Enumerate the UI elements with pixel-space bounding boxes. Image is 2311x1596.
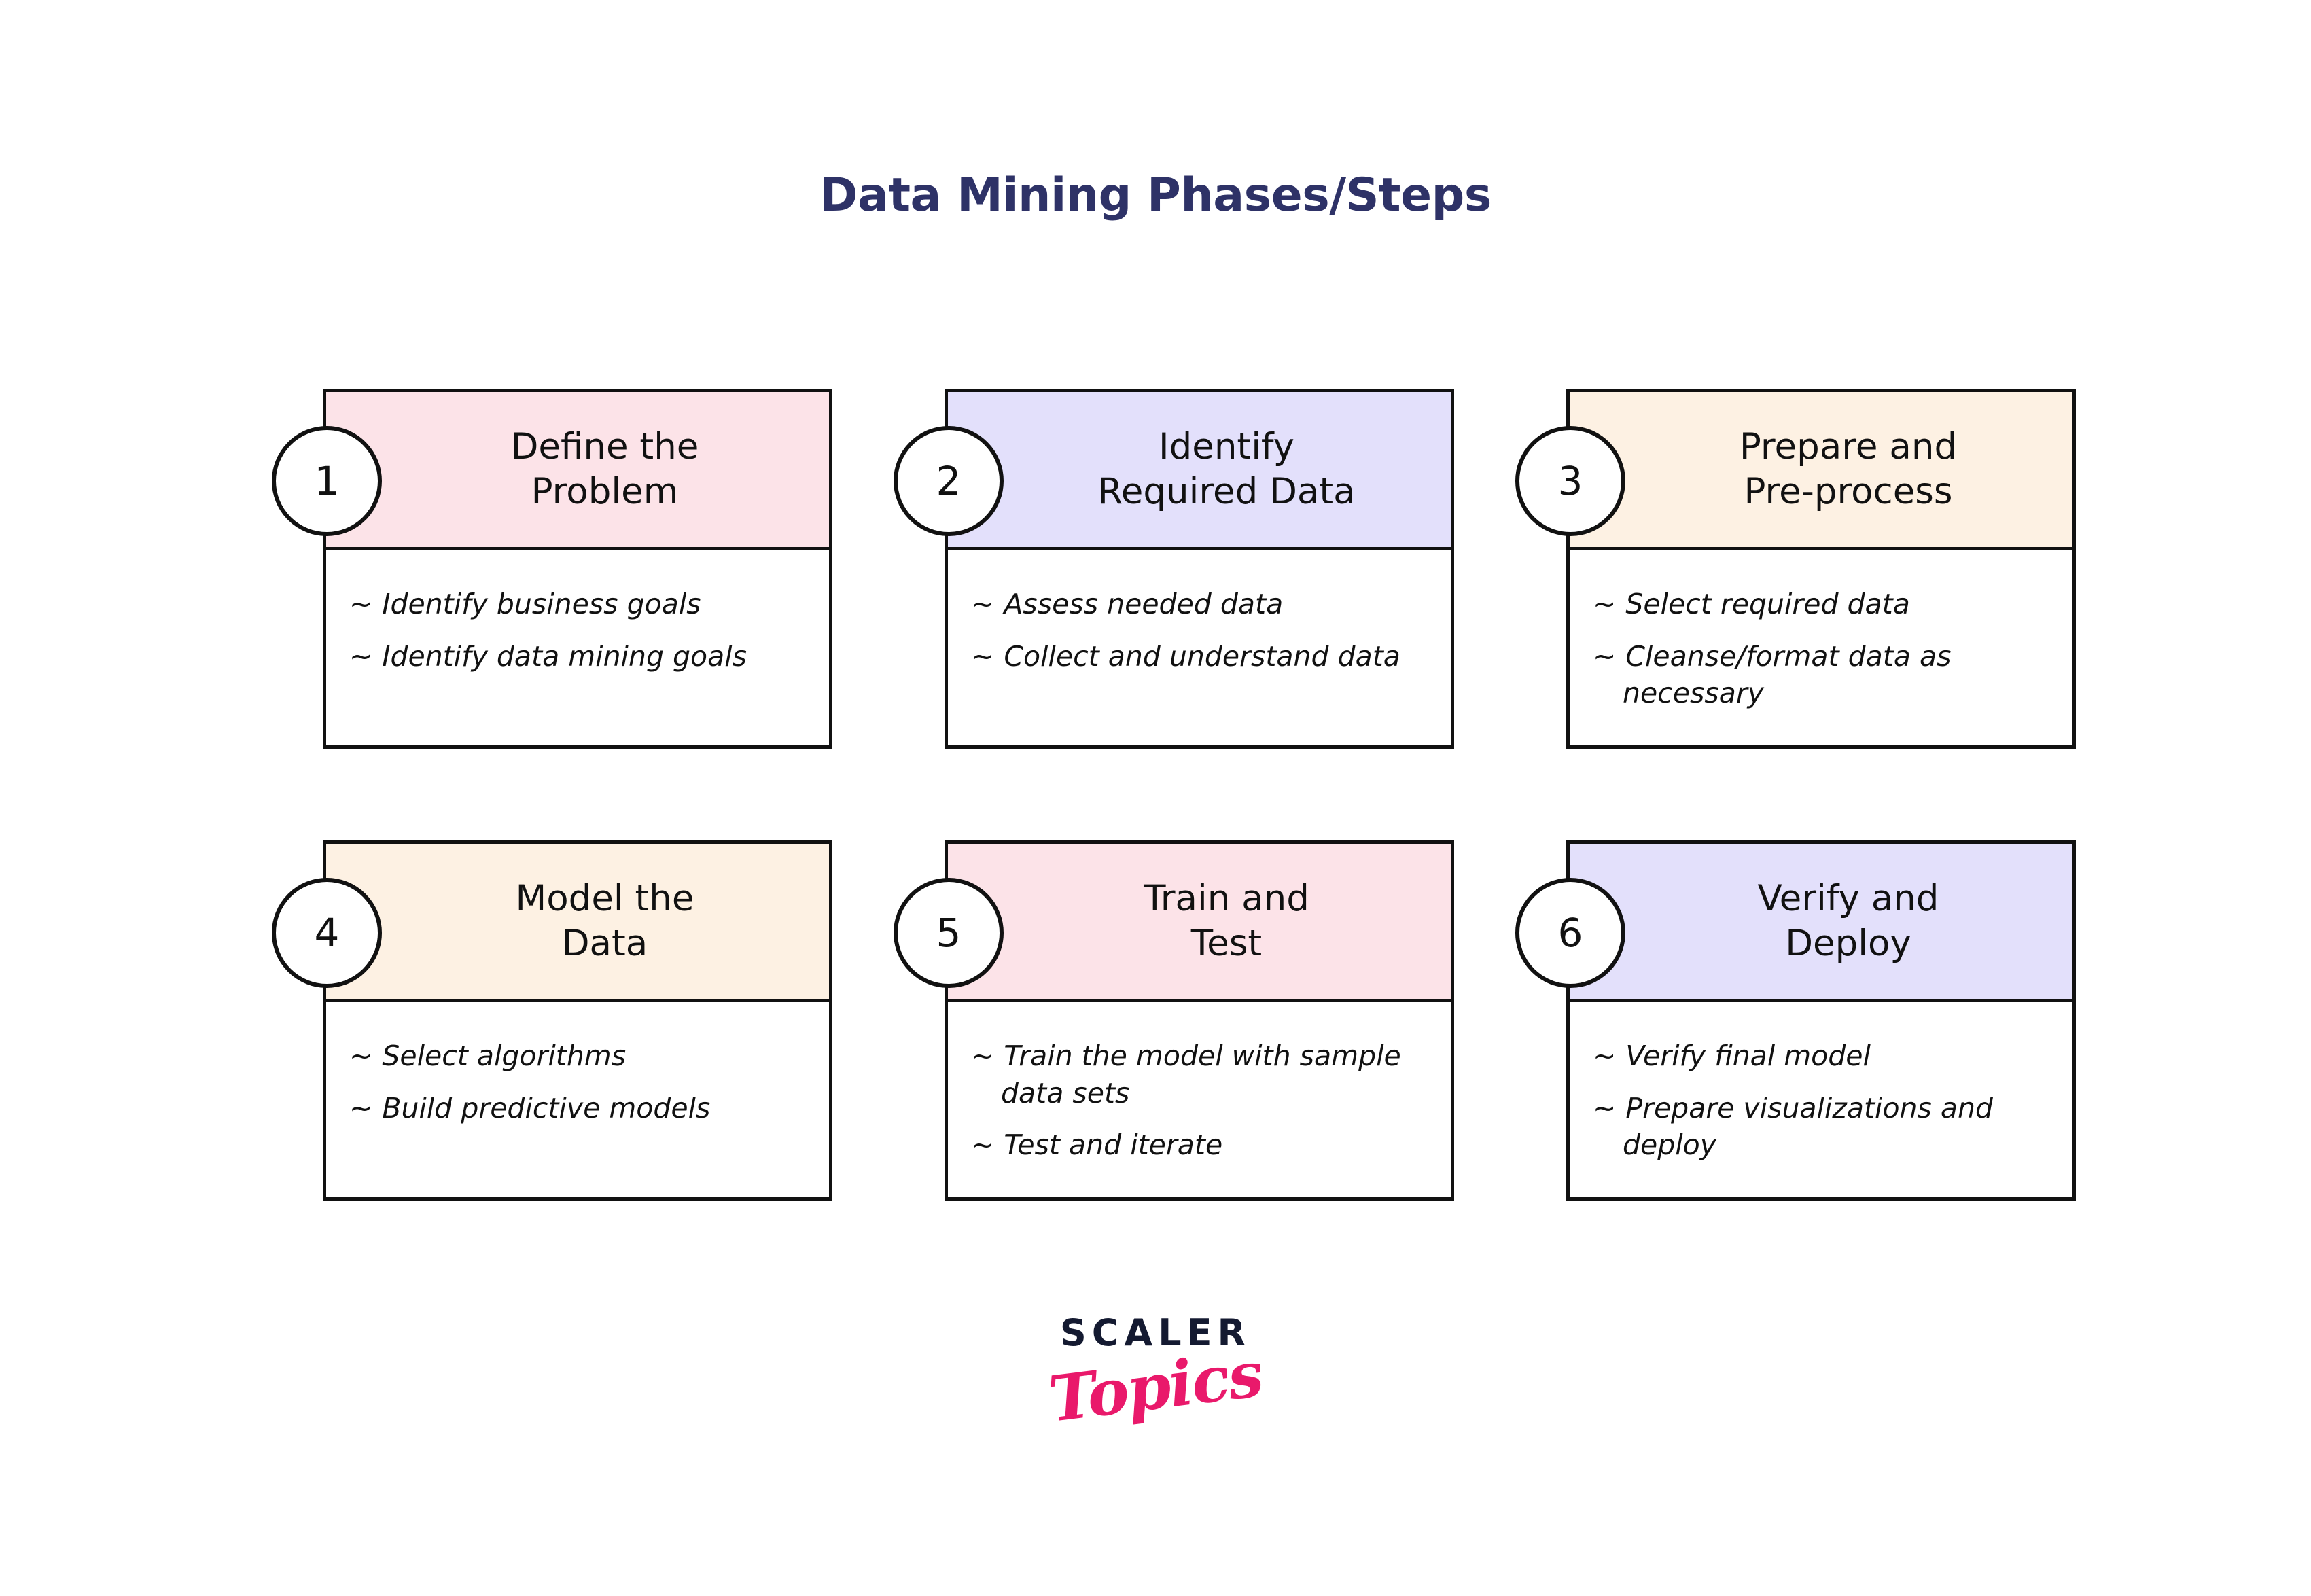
phase-card-body: ~Train the model with sample data sets~T…: [948, 1002, 1451, 1197]
step-number-label: 5: [936, 913, 962, 953]
phase-bullet: ~Collect and understand data: [971, 638, 1428, 675]
bullet-text: Verify final model: [1625, 1040, 1871, 1072]
phase-card-body: ~Assess needed data~Collect and understa…: [948, 550, 1451, 745]
bullet-marker-icon: ~: [349, 1092, 382, 1124]
bullet-text: Select required data: [1625, 588, 1910, 620]
bullet-marker-icon: ~: [971, 588, 1004, 620]
phase-card: 1Define the Problem~Identify business go…: [323, 389, 832, 749]
bullet-text: Select algorithms: [382, 1040, 626, 1072]
phase-card-body: ~Identify business goals~Identify data m…: [326, 550, 829, 745]
bullet-text: Identify business goals: [382, 588, 701, 620]
bullet-text: Collect and understand data: [1004, 640, 1400, 673]
bullet-text: Train the model with sample data sets: [1001, 1040, 1401, 1110]
bullet-text: Test and iterate: [1004, 1129, 1222, 1161]
step-number-label: 6: [1558, 913, 1583, 953]
bullet-marker-icon: ~: [349, 1040, 382, 1072]
phase-bullet: ~Test and iterate: [971, 1127, 1428, 1164]
phase-card: 3Prepare and Pre-process~Select required…: [1566, 389, 2076, 749]
phase-card: 4Model the Data~Select algorithms~Build …: [323, 840, 832, 1201]
phase-bullet: ~Select algorithms: [349, 1038, 806, 1075]
phase-bullet: ~Identify data mining goals: [349, 638, 806, 675]
step-number-label: 2: [936, 461, 962, 501]
step-number-circle: 3: [1515, 426, 1625, 536]
phase-card-heading: Define the Problem: [511, 425, 699, 515]
phase-card: 2Identify Required Data~Assess needed da…: [945, 389, 1454, 749]
bullet-marker-icon: ~: [971, 1129, 1004, 1161]
bullet-marker-icon: ~: [349, 640, 382, 673]
phases-grid: 1Define the Problem~Identify business go…: [323, 389, 2076, 1201]
phase-card-heading: Identify Required Data: [1097, 425, 1355, 515]
step-number-label: 4: [315, 913, 340, 953]
phase-card: 6Verify and Deploy~Verify final model~Pr…: [1566, 840, 2076, 1201]
phase-card-body: ~Verify final model~Prepare visualizatio…: [1570, 1002, 2072, 1197]
step-number-circle: 5: [894, 878, 1004, 988]
phase-bullet: ~Train the model with sample data sets: [971, 1038, 1428, 1112]
phase-bullet: ~Identify business goals: [349, 586, 806, 623]
page-title: Data Mining Phases/Steps: [0, 169, 2311, 222]
step-number-label: 1: [315, 461, 340, 501]
phase-card-header: Prepare and Pre-process: [1570, 392, 2072, 550]
phase-card-body: ~Select algorithms~Build predictive mode…: [326, 1002, 829, 1197]
bullet-marker-icon: ~: [971, 1040, 1004, 1072]
bullet-text: Prepare visualizations and deploy: [1623, 1092, 1993, 1162]
logo-product-text: Topics: [4, 1209, 2307, 1564]
phase-card-heading: Prepare and Pre-process: [1740, 425, 1957, 515]
phase-card-header: Identify Required Data: [948, 392, 1451, 550]
step-number-circle: 1: [272, 426, 382, 536]
scaler-topics-logo: SCALER Topics: [0, 1311, 2311, 1423]
step-number-circle: 6: [1515, 878, 1625, 988]
phase-card-heading: Model the Data: [516, 876, 694, 967]
bullet-text: Identify data mining goals: [382, 640, 747, 673]
step-number-circle: 2: [894, 426, 1004, 536]
phase-bullet: ~Build predictive models: [349, 1090, 806, 1127]
step-number-label: 3: [1558, 461, 1583, 501]
phase-bullet: ~Prepare visualizations and deploy: [1593, 1090, 2049, 1164]
phase-card-header: Train and Test: [948, 844, 1451, 1002]
phase-bullet: ~Select required data: [1593, 586, 2049, 623]
phase-card-header: Model the Data: [326, 844, 829, 1002]
bullet-text: Build predictive models: [382, 1092, 710, 1124]
phase-bullet: ~Assess needed data: [971, 586, 1428, 623]
bullet-marker-icon: ~: [1593, 1092, 1625, 1124]
bullet-text: Assess needed data: [1004, 588, 1283, 620]
bullet-marker-icon: ~: [1593, 1040, 1625, 1072]
phase-card-body: ~Select required data~Cleanse/format dat…: [1570, 550, 2072, 745]
phase-card-heading: Train and Test: [1144, 876, 1309, 967]
phase-bullet: ~Cleanse/format data as necessary: [1593, 638, 2049, 712]
bullet-text: Cleanse/format data as necessary: [1623, 640, 1952, 710]
bullet-marker-icon: ~: [1593, 588, 1625, 620]
bullet-marker-icon: ~: [349, 588, 382, 620]
phase-bullet: ~Verify final model: [1593, 1038, 2049, 1075]
bullet-marker-icon: ~: [1593, 640, 1625, 673]
phase-card-heading: Verify and Deploy: [1758, 876, 1939, 967]
step-number-circle: 4: [272, 878, 382, 988]
phase-card-header: Define the Problem: [326, 392, 829, 550]
phase-card-header: Verify and Deploy: [1570, 844, 2072, 1002]
phase-card: 5Train and Test~Train the model with sam…: [945, 840, 1454, 1201]
bullet-marker-icon: ~: [971, 640, 1004, 673]
